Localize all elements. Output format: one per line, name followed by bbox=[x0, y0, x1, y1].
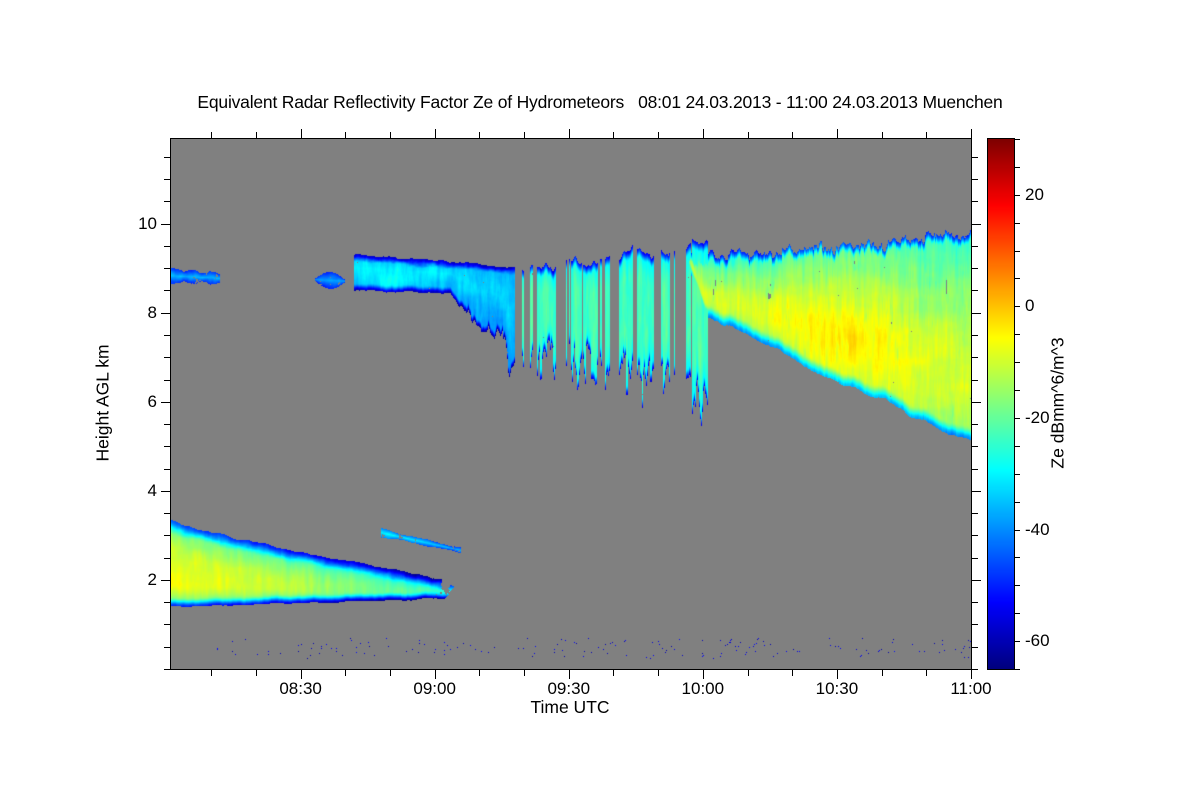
y-tick-right bbox=[971, 558, 978, 559]
x-tick-label: 08:30 bbox=[279, 679, 322, 699]
y-tick bbox=[164, 535, 171, 536]
y-tick bbox=[164, 201, 171, 202]
x-tick-top bbox=[658, 132, 659, 139]
y-tick bbox=[161, 224, 171, 225]
x-tick-label: 10:30 bbox=[816, 679, 859, 699]
colorbar-tick bbox=[1014, 306, 1020, 307]
y-tick-right bbox=[971, 469, 978, 470]
colorbar-tick bbox=[1014, 418, 1020, 419]
x-tick bbox=[345, 669, 346, 676]
x-tick bbox=[390, 669, 391, 676]
colorbar-tick bbox=[1014, 502, 1020, 503]
y-tick bbox=[164, 469, 171, 470]
page-title: Equivalent Radar Reflectivity Factor Ze … bbox=[0, 92, 1200, 113]
y-tick-right bbox=[971, 513, 978, 514]
colorbar-tick bbox=[1014, 278, 1020, 279]
colorbar-tick-label: -60 bbox=[1025, 631, 1050, 651]
y-tick-right bbox=[971, 624, 978, 625]
x-tick bbox=[435, 669, 436, 679]
colorbar-label: Ze dBmm^6/m^3 bbox=[1048, 337, 1069, 468]
y-tick-label: 2 bbox=[148, 570, 157, 590]
y-tick-right bbox=[971, 602, 978, 603]
x-tick-label: 11:00 bbox=[950, 679, 991, 699]
y-tick bbox=[164, 669, 171, 670]
x-tick-top bbox=[703, 129, 704, 139]
y-tick bbox=[164, 157, 171, 158]
colorbar-tick bbox=[1014, 557, 1020, 558]
y-tick-right bbox=[971, 647, 978, 648]
x-tick bbox=[301, 669, 302, 679]
x-tick-top bbox=[524, 132, 525, 139]
colorbar-tick bbox=[1014, 530, 1020, 531]
y-tick bbox=[164, 558, 171, 559]
x-tick-top bbox=[435, 129, 436, 139]
x-tick bbox=[569, 669, 570, 679]
colorbar-tick bbox=[1014, 641, 1020, 642]
x-tick bbox=[613, 669, 614, 676]
colorbar-tick bbox=[1014, 251, 1020, 252]
x-tick-top bbox=[971, 129, 972, 139]
x-tick bbox=[703, 669, 704, 679]
x-tick bbox=[926, 669, 927, 676]
x-tick bbox=[479, 669, 480, 676]
y-tick bbox=[164, 602, 171, 603]
y-tick-right bbox=[971, 580, 981, 581]
y-tick-right bbox=[971, 446, 978, 447]
y-tick-right bbox=[971, 491, 981, 492]
colorbar-tick-label: 0 bbox=[1025, 296, 1034, 316]
x-tick-top bbox=[882, 132, 883, 139]
x-tick bbox=[658, 669, 659, 676]
y-tick-label: 10 bbox=[138, 214, 157, 234]
x-tick bbox=[971, 669, 972, 679]
y-tick-label: 8 bbox=[148, 303, 157, 323]
x-tick-top bbox=[479, 132, 480, 139]
x-tick-top bbox=[569, 129, 570, 139]
y-tick bbox=[164, 424, 171, 425]
colorbar-tick bbox=[1014, 390, 1020, 391]
x-tick-label: 09:30 bbox=[547, 679, 590, 699]
x-tick-top bbox=[837, 129, 838, 139]
y-tick-right bbox=[971, 335, 978, 336]
colorbar-tick bbox=[1014, 613, 1020, 614]
y-tick bbox=[164, 357, 171, 358]
y-tick bbox=[161, 313, 171, 314]
reflectivity-heatmap-canvas bbox=[171, 139, 971, 669]
y-tick-right bbox=[971, 313, 981, 314]
x-tick-top bbox=[345, 132, 346, 139]
y-tick-right bbox=[971, 246, 978, 247]
y-tick-right bbox=[971, 424, 978, 425]
colorbar-tick-label: 20 bbox=[1025, 185, 1044, 205]
x-tick bbox=[792, 669, 793, 676]
x-tick-top bbox=[301, 129, 302, 139]
colorbar-gradient bbox=[988, 139, 1014, 669]
x-tick bbox=[882, 669, 883, 676]
y-tick-right bbox=[971, 669, 978, 670]
colorbar-tick bbox=[1014, 223, 1020, 224]
x-tick-top bbox=[613, 132, 614, 139]
x-tick bbox=[211, 669, 212, 676]
x-tick-label: 09:00 bbox=[413, 679, 456, 699]
y-tick bbox=[164, 647, 171, 648]
colorbar-tick bbox=[1014, 474, 1020, 475]
y-tick-right bbox=[971, 157, 978, 158]
y-tick bbox=[164, 268, 171, 269]
x-tick bbox=[524, 669, 525, 676]
y-tick-label: 4 bbox=[148, 481, 157, 501]
y-tick bbox=[161, 580, 171, 581]
plot-axes: 24681008:3009:0009:3010:0010:3011:00 bbox=[170, 138, 972, 670]
x-tick-top bbox=[256, 132, 257, 139]
x-tick-top bbox=[748, 132, 749, 139]
y-tick bbox=[161, 402, 171, 403]
y-axis-label: Height AGL km bbox=[93, 344, 114, 461]
colorbar-tick-label: -40 bbox=[1025, 520, 1050, 540]
x-tick-top bbox=[792, 132, 793, 139]
y-tick-right bbox=[971, 357, 978, 358]
x-tick-top bbox=[211, 132, 212, 139]
x-tick bbox=[256, 669, 257, 676]
y-tick bbox=[164, 290, 171, 291]
y-tick bbox=[164, 246, 171, 247]
y-tick-right bbox=[971, 402, 981, 403]
y-tick bbox=[164, 380, 171, 381]
colorbar-tick bbox=[1014, 446, 1020, 447]
radar-reflectivity-figure: Equivalent Radar Reflectivity Factor Ze … bbox=[0, 0, 1200, 800]
colorbar-tick-label: -20 bbox=[1025, 408, 1050, 428]
x-axis-label: Time UTC bbox=[530, 697, 609, 718]
y-tick-right bbox=[971, 179, 978, 180]
y-tick bbox=[164, 179, 171, 180]
y-tick bbox=[164, 446, 171, 447]
y-tick-right bbox=[971, 224, 981, 225]
colorbar-tick bbox=[1014, 669, 1020, 670]
y-tick bbox=[164, 624, 171, 625]
colorbar-tick bbox=[1014, 167, 1020, 168]
y-tick-right bbox=[971, 201, 978, 202]
x-tick-label: 10:00 bbox=[682, 679, 725, 699]
colorbar-tick bbox=[1014, 362, 1020, 363]
colorbar-tick bbox=[1014, 139, 1020, 140]
colorbar-tick bbox=[1014, 195, 1020, 196]
x-tick bbox=[837, 669, 838, 679]
y-tick bbox=[161, 491, 171, 492]
y-tick-label: 6 bbox=[148, 392, 157, 412]
colorbar-tick bbox=[1014, 334, 1020, 335]
y-tick-right bbox=[971, 535, 978, 536]
x-tick bbox=[748, 669, 749, 676]
y-tick bbox=[164, 513, 171, 514]
y-tick bbox=[164, 335, 171, 336]
y-tick-right bbox=[971, 290, 978, 291]
x-tick-top bbox=[926, 132, 927, 139]
y-tick-right bbox=[971, 380, 978, 381]
y-tick-right bbox=[971, 268, 978, 269]
colorbar-tick bbox=[1014, 585, 1020, 586]
colorbar: -60-40-20020 bbox=[987, 138, 1015, 670]
x-tick-top bbox=[390, 132, 391, 139]
